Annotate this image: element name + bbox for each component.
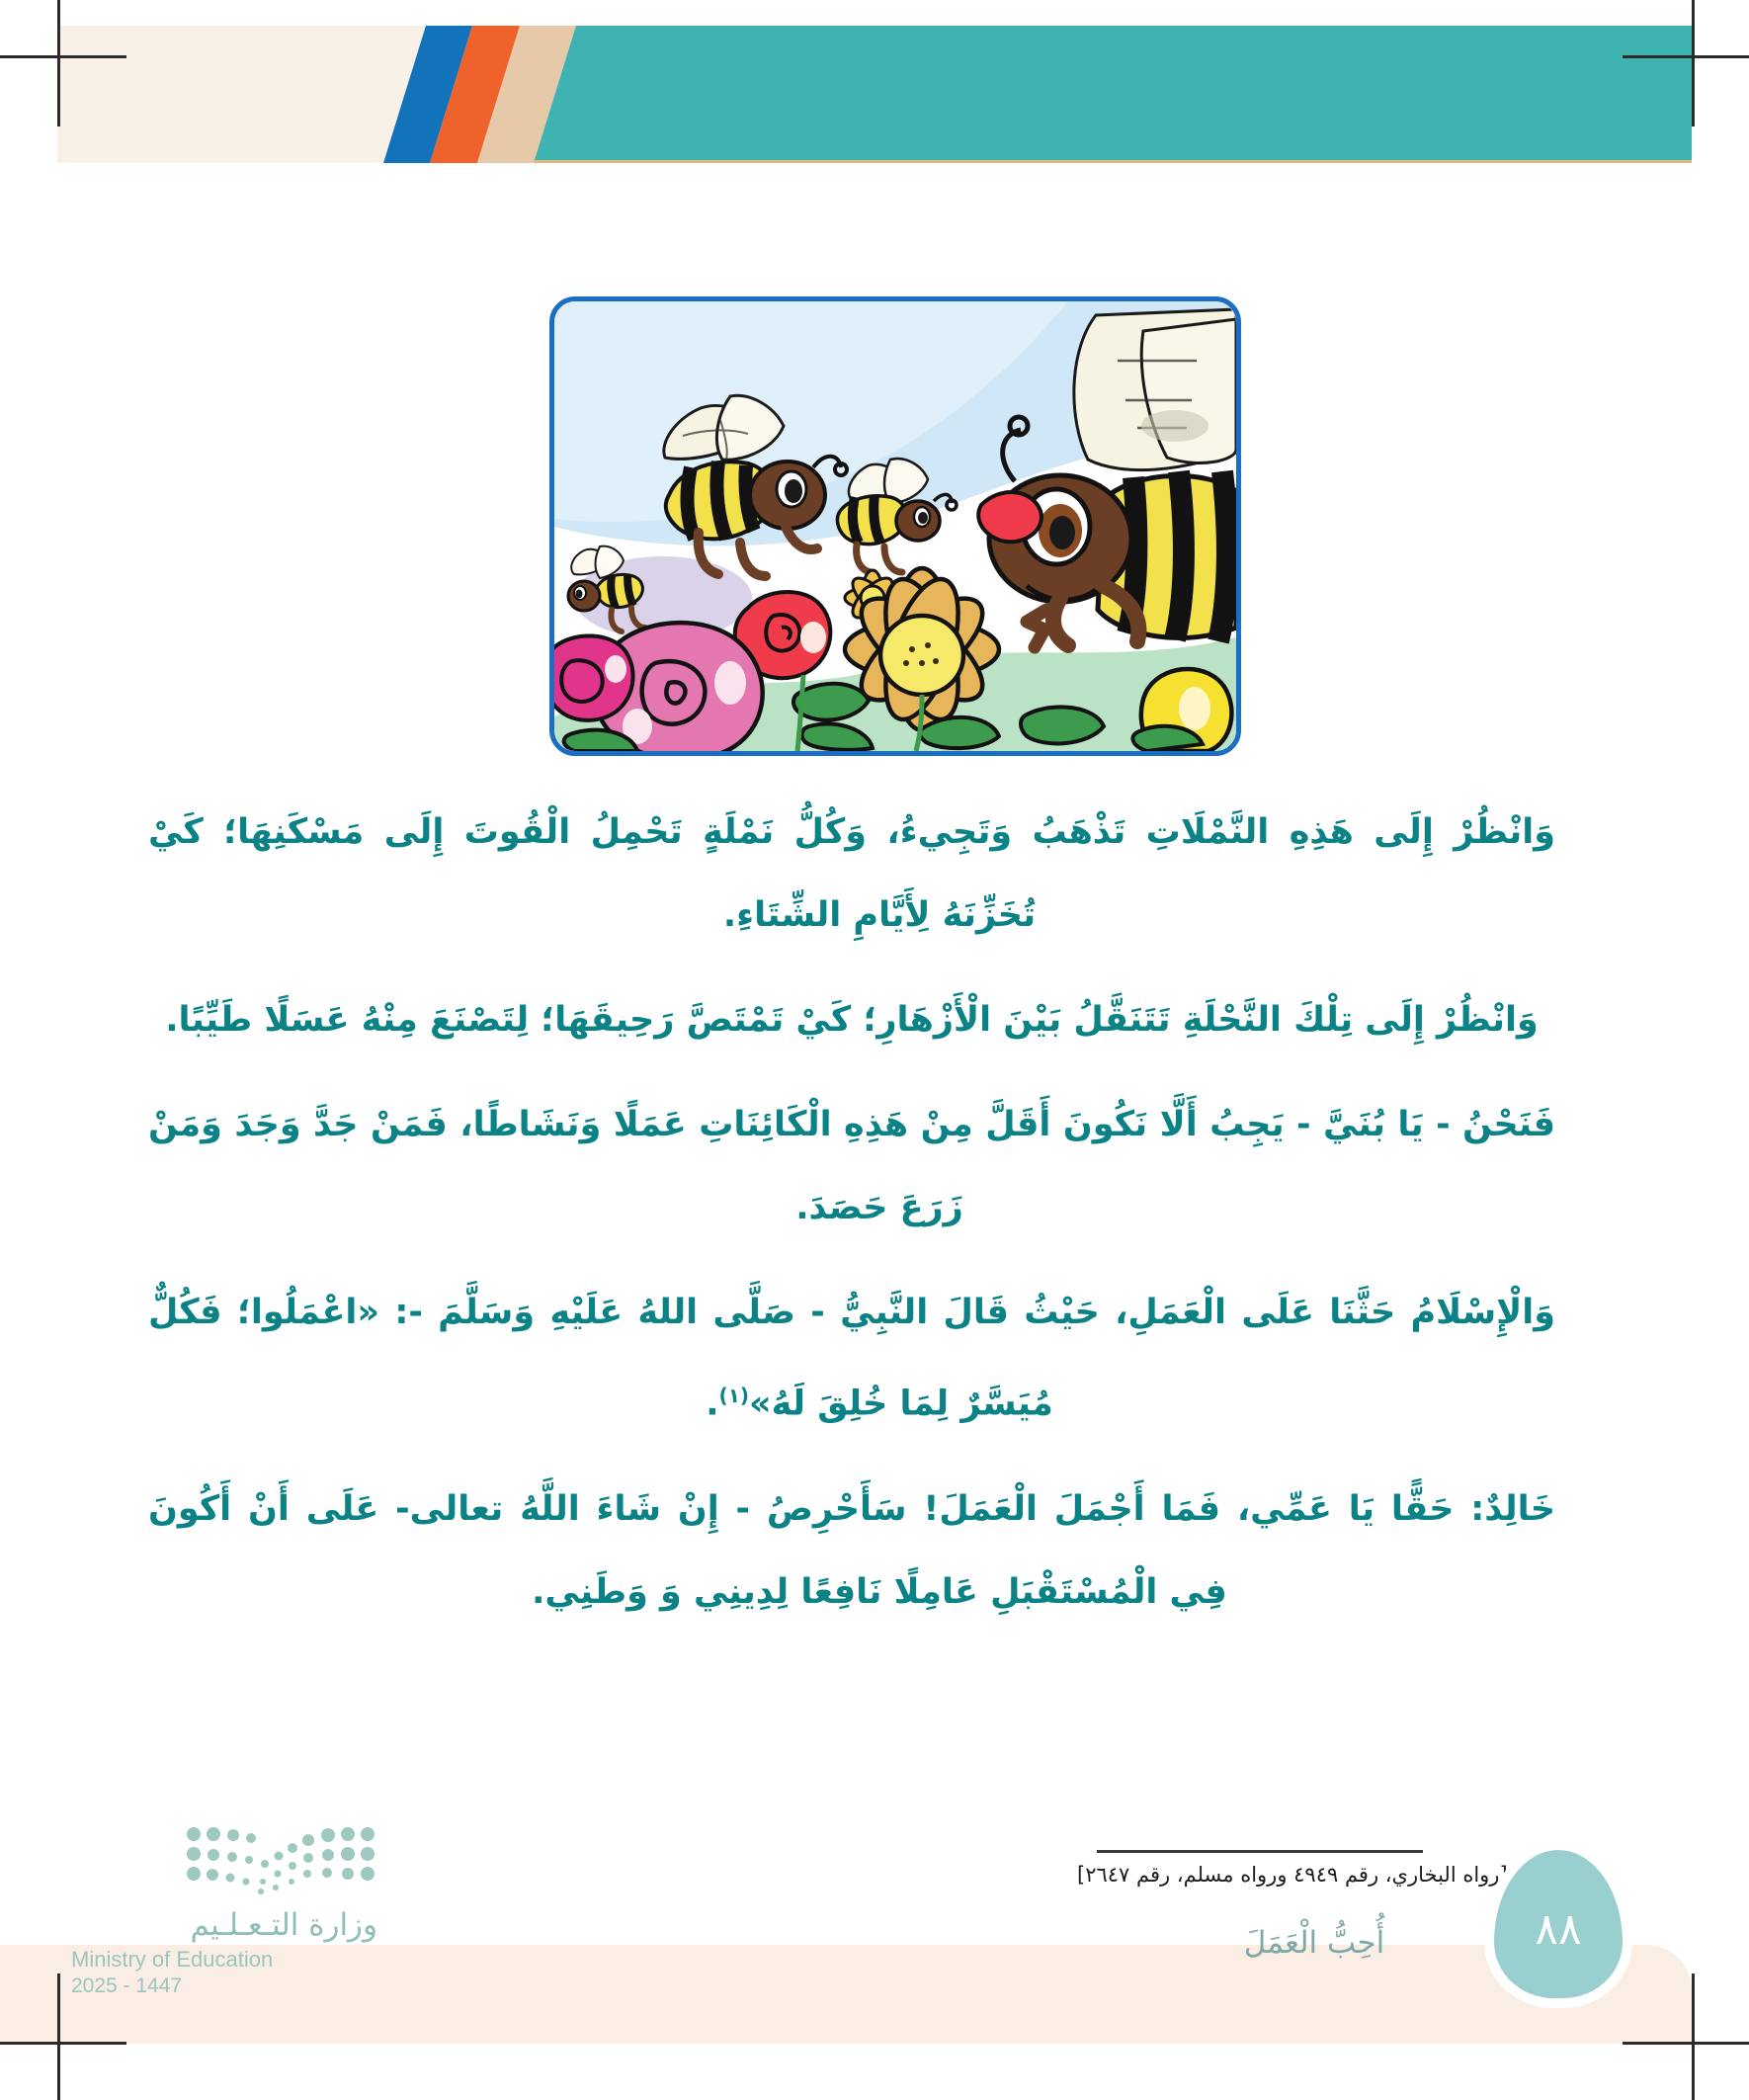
illustration-frame (549, 296, 1241, 756)
header-decorative-band (57, 26, 1692, 163)
crop-mark-bottom-right-horizontal (1623, 2042, 1749, 2045)
ministry-name-english: Ministry of Education (71, 1947, 377, 1973)
footnote-reference-marker[interactable]: (١) (719, 1384, 750, 1407)
chapter-title-footer: أُحِبُّ الْعَمَلَ (1136, 1925, 1492, 1961)
page-number-badge: ٨٨ (1494, 1850, 1623, 1998)
textbook-page: وَانْظُرْ إِلَى هَذِهِ النَّمْلَاتِ تَذْ… (0, 0, 1749, 2100)
ministry-of-education-logo: وزارة التـعـلـيم Ministry of Education 2… (71, 1826, 377, 1998)
ministry-name-arabic: وزارة التـعـلـيم (71, 1907, 377, 1943)
crop-mark-bottom-left-vertical (57, 1974, 60, 2100)
paragraph-islam-hadith: وَالْإِسْلَامُ حَثَّنَا عَلَى الْعَمَلِ،… (148, 1271, 1611, 1446)
bees-and-flowers-illustration (554, 301, 1236, 751)
header-stripes-svg (57, 26, 1692, 163)
paragraph-we: فَنَحْنُ - يَا بُنَيَّ - يَجِبُ أَلَّا ن… (148, 1083, 1611, 1249)
paragraph-bee: وَانْظُرْ إِلَى تِلْكَ النَّحْلَةِ تَتَن… (148, 978, 1611, 1061)
page-number-value: ٨٨ (1494, 1850, 1623, 1998)
header-thin-gold-line (534, 160, 1692, 163)
hadith-trailing-period: . (706, 1385, 718, 1424)
crop-mark-top-left-horizontal (0, 55, 126, 58)
header-teal-area (534, 26, 1692, 163)
footnote-separator-rule (1097, 1850, 1423, 1853)
paragraph-ants: وَانْظُرْ إِلَى هَذِهِ النَّمْلَاتِ تَذْ… (148, 791, 1611, 957)
big-bee-wings (1074, 309, 1236, 470)
crop-mark-top-right-horizontal (1623, 55, 1749, 58)
crop-mark-top-left-vertical (57, 0, 60, 126)
magenta-rose (554, 635, 633, 719)
crop-mark-bottom-right-vertical (1692, 1974, 1695, 2100)
ministry-logo-dots-icon (184, 1826, 377, 1899)
crop-mark-bottom-left-horizontal (0, 2042, 126, 2045)
paragraph-khalid: خَالِدٌ: حَقًّا يَا عَمِّي، فَمَا أَجْمَ… (148, 1468, 1611, 1634)
hadith-text: وَالْإِسْلَامُ حَثَّنَا عَلَى الْعَمَلِ،… (148, 1293, 1555, 1424)
crop-mark-top-right-vertical (1692, 0, 1695, 126)
ministry-year: 2025 - 1447 (71, 1974, 377, 1998)
lesson-body-text: وَانْظُرْ إِلَى هَذِهِ النَّمْلَاتِ تَذْ… (148, 791, 1611, 1634)
